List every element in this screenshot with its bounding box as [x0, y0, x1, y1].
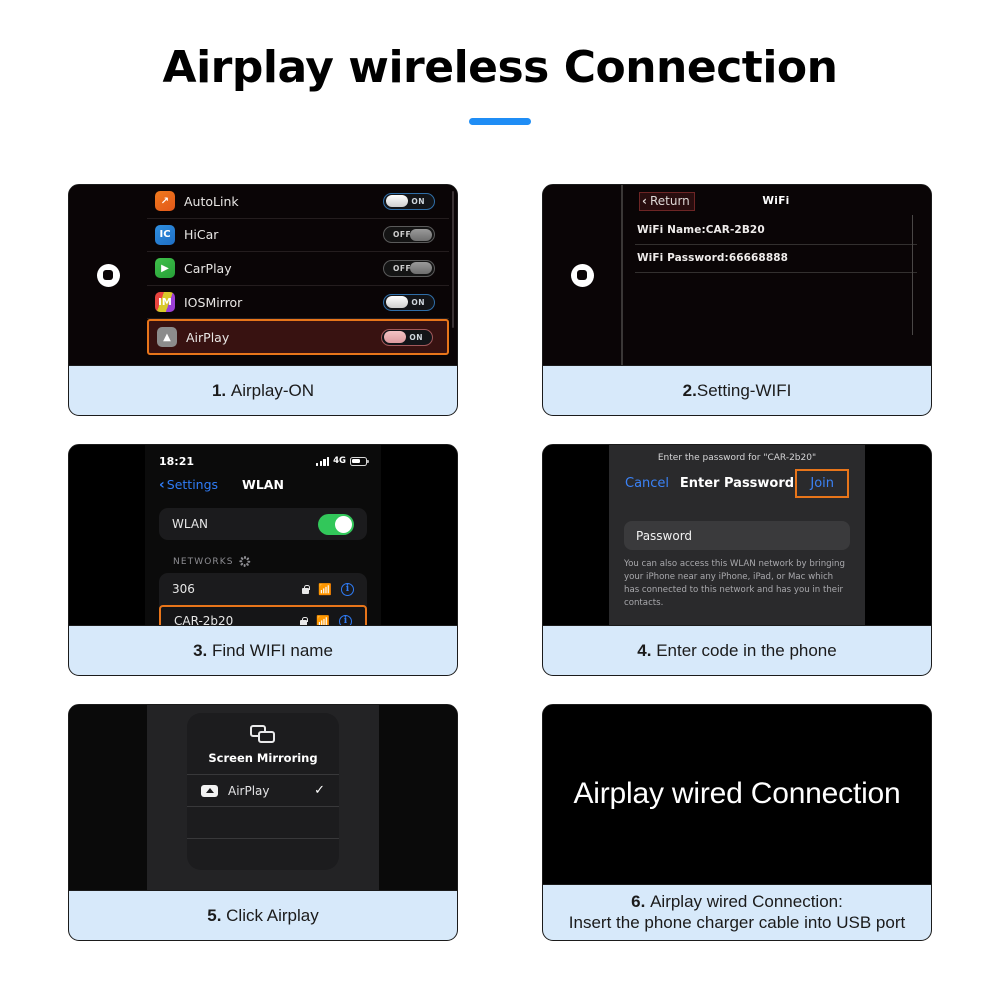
- network-row-306[interactable]: 306 📶 i: [159, 573, 367, 605]
- iphone-screen: 18:21 4G ‹ Settings: [145, 445, 381, 625]
- caption-text-6b: Insert the phone charger cable into USB …: [569, 913, 905, 932]
- chevron-left-icon: ‹: [642, 194, 647, 208]
- iosmirror-icon-letters: IM: [158, 297, 172, 308]
- toggle-label-airplay: ON: [409, 333, 423, 342]
- step-card-2: ‹ Return WiFi WiFi Name:CAR-2B20 WiFi Pa…: [542, 184, 932, 416]
- screenshot-enter-password: Enter the password for "CAR-2b20" Cancel…: [543, 445, 931, 625]
- app-row-iosmirror[interactable]: IM IOSMirror ON: [147, 286, 449, 320]
- caption-text-6a: Airplay wired Connection:: [650, 892, 843, 911]
- app-name-carplay: CarPlay: [184, 261, 383, 276]
- step-card-5: Screen Mirroring AirPlay ✓: [68, 704, 458, 941]
- toggle-hicar[interactable]: OFF: [383, 226, 435, 243]
- mirroring-row-empty-1[interactable]: [187, 806, 339, 838]
- wifi-icon: 📶: [318, 584, 332, 595]
- password-placeholder: Password: [636, 529, 692, 543]
- wlan-toggle[interactable]: [318, 514, 354, 535]
- password-toolbar: Cancel Enter Password Join: [609, 463, 865, 503]
- screenshot-app-list: ↗ AutoLink ON IC HiCar OFF ▶ CarPlay: [69, 185, 457, 365]
- network-row-car-2b20[interactable]: CAR-2b20 📶 i: [159, 605, 367, 625]
- step-card-3: 18:21 4G ‹ Settings: [68, 444, 458, 676]
- caption-2: 2.Setting-WIFI: [543, 365, 931, 415]
- battery-icon: [350, 457, 367, 466]
- page-root: Airplay wireless Connection ↗ AutoLink O…: [0, 0, 1000, 1000]
- caption-text-1: Airplay-ON: [231, 381, 314, 400]
- home-button-icon-2[interactable]: [571, 264, 594, 287]
- caption-number-3: 3.: [193, 641, 207, 660]
- caption-text-4: Enter code in the phone: [656, 641, 837, 660]
- lock-icon: [302, 585, 309, 594]
- caption-1: 1. Airplay-ON: [69, 365, 457, 415]
- app-list: ↗ AutoLink ON IC HiCar OFF ▶ CarPlay: [147, 185, 457, 365]
- app-name-autolink: AutoLink: [184, 194, 383, 209]
- password-hint-text: You can also access this WLAN network by…: [624, 558, 850, 610]
- wifi-topbar: ‹ Return WiFi: [621, 185, 931, 217]
- toggle-carplay[interactable]: OFF: [383, 260, 435, 277]
- app-row-airplay[interactable]: ▲ AirPlay ON: [147, 319, 449, 355]
- caption-text-2: Setting-WIFI: [697, 381, 791, 400]
- network-list: 306 📶 i CAR-2b20: [159, 573, 367, 625]
- lock-icon-2: [300, 617, 307, 626]
- step-card-6: Airplay wired Connection 6. Airplay wire…: [542, 704, 932, 941]
- password-dialog: Enter the password for "CAR-2b20" Cancel…: [609, 445, 865, 625]
- screen-mirroring-icon: [250, 725, 276, 744]
- password-input[interactable]: Password: [624, 521, 850, 550]
- toggle-label-carplay: OFF: [393, 264, 411, 273]
- toggle-airplay[interactable]: ON: [381, 329, 433, 346]
- sheet-header: Screen Mirroring: [187, 713, 339, 774]
- mirroring-device-label: AirPlay: [228, 784, 270, 798]
- caption-text-5: Click Airplay: [226, 906, 319, 925]
- app-name-airplay: AirPlay: [186, 330, 381, 345]
- caption-number-6: 6.: [631, 892, 645, 911]
- network-ssid-car-2b20: CAR-2b20: [174, 614, 233, 625]
- networks-section-header: NETWORKS: [173, 556, 381, 567]
- scrollbar[interactable]: [452, 191, 454, 328]
- app-row-autolink[interactable]: ↗ AutoLink ON: [147, 185, 449, 219]
- nav-bar: ‹ Settings WLAN: [145, 471, 381, 498]
- status-time: 18:21: [159, 455, 194, 468]
- screenshot-screen-mirroring: Screen Mirroring AirPlay ✓: [69, 705, 457, 890]
- autolink-icon: ↗: [155, 191, 175, 211]
- mirroring-row-empty-2[interactable]: [187, 838, 339, 870]
- scanning-spinner-icon: [240, 556, 251, 567]
- caption-4: 4. Enter code in the phone: [543, 625, 931, 675]
- wifi-password-row: WiFi Password:66668888: [635, 245, 917, 273]
- signal-bars-icon: [316, 457, 329, 466]
- info-icon-2[interactable]: i: [339, 615, 352, 626]
- sheet-title: Screen Mirroring: [187, 751, 339, 765]
- wlan-label: WLAN: [172, 517, 208, 531]
- screen-mirroring-sheet: Screen Mirroring AirPlay ✓: [187, 713, 339, 870]
- title-divider: [469, 118, 531, 125]
- toggle-label-iosmirror: ON: [411, 298, 425, 307]
- hicar-icon-letters: IC: [159, 229, 170, 240]
- wlan-toggle-row[interactable]: WLAN: [159, 508, 367, 540]
- toggle-label-hicar: OFF: [393, 230, 411, 239]
- caption-number-5: 5.: [207, 906, 221, 925]
- wired-banner-text: Airplay wired Connection: [573, 777, 900, 811]
- toggle-iosmirror[interactable]: ON: [383, 294, 435, 311]
- app-row-carplay[interactable]: ▶ CarPlay OFF: [147, 252, 449, 286]
- steps-grid: ↗ AutoLink ON IC HiCar OFF ▶ CarPlay: [68, 184, 932, 941]
- caption-5: 5. Click Airplay: [69, 890, 457, 940]
- caption-number-4: 4.: [637, 641, 651, 660]
- mirroring-row-airplay[interactable]: AirPlay ✓: [187, 774, 339, 806]
- networks-label: NETWORKS: [173, 557, 234, 567]
- head-unit-left-rail-2: [543, 185, 621, 365]
- page-title: Airplay wireless Connection: [0, 44, 1000, 92]
- toggle-autolink[interactable]: ON: [383, 193, 435, 210]
- caption-text-3: Find WIFI name: [212, 641, 333, 660]
- password-subtitle: Enter the password for "CAR-2b20": [609, 445, 865, 463]
- caption-number-1: 1.: [212, 381, 226, 400]
- screenshot-iphone-wlan: 18:21 4G ‹ Settings: [69, 445, 457, 625]
- home-button-icon[interactable]: [97, 264, 120, 287]
- return-button[interactable]: ‹ Return: [639, 192, 695, 211]
- network-type-label: 4G: [333, 456, 346, 466]
- caption-number-2: 2.: [683, 381, 697, 400]
- app-name-hicar: HiCar: [184, 227, 383, 242]
- head-unit-left-rail: [69, 185, 147, 365]
- screenshot-wired-banner: Airplay wired Connection: [543, 705, 931, 884]
- nav-title-wlan: WLAN: [145, 477, 381, 492]
- toggle-label-autolink: ON: [411, 197, 425, 206]
- app-name-iosmirror: IOSMirror: [184, 295, 383, 310]
- step-card-4: Enter the password for "CAR-2b20" Cancel…: [542, 444, 932, 676]
- airplay-device-icon: [201, 785, 218, 797]
- wifi-icon-2: 📶: [316, 616, 330, 626]
- info-icon[interactable]: i: [341, 583, 354, 596]
- join-button[interactable]: Join: [795, 469, 849, 498]
- header: Airplay wireless Connection: [0, 0, 1000, 125]
- wifi-info-panel: ‹ Return WiFi WiFi Name:CAR-2B20 WiFi Pa…: [621, 185, 931, 365]
- screenshot-head-unit-wifi: ‹ Return WiFi WiFi Name:CAR-2B20 WiFi Pa…: [543, 185, 931, 365]
- caption-3: 3. Find WIFI name: [69, 625, 457, 675]
- checkmark-icon: ✓: [314, 783, 325, 798]
- vertical-separator: [912, 215, 914, 335]
- step-card-1: ↗ AutoLink ON IC HiCar OFF ▶ CarPlay: [68, 184, 458, 416]
- caption-6: 6. Airplay wired Connection: Insert the …: [543, 884, 931, 941]
- wifi-name-row: WiFi Name:CAR-2B20: [635, 217, 917, 245]
- network-ssid-306: 306: [172, 582, 195, 596]
- return-label: Return: [650, 194, 690, 208]
- iosmirror-icon: IM: [155, 292, 175, 312]
- app-row-hicar[interactable]: IC HiCar OFF: [147, 219, 449, 253]
- airplay-icon: ▲: [157, 327, 177, 347]
- status-bar: 18:21 4G: [145, 445, 381, 471]
- hicar-icon: IC: [155, 225, 175, 245]
- carplay-icon: ▶: [155, 258, 175, 278]
